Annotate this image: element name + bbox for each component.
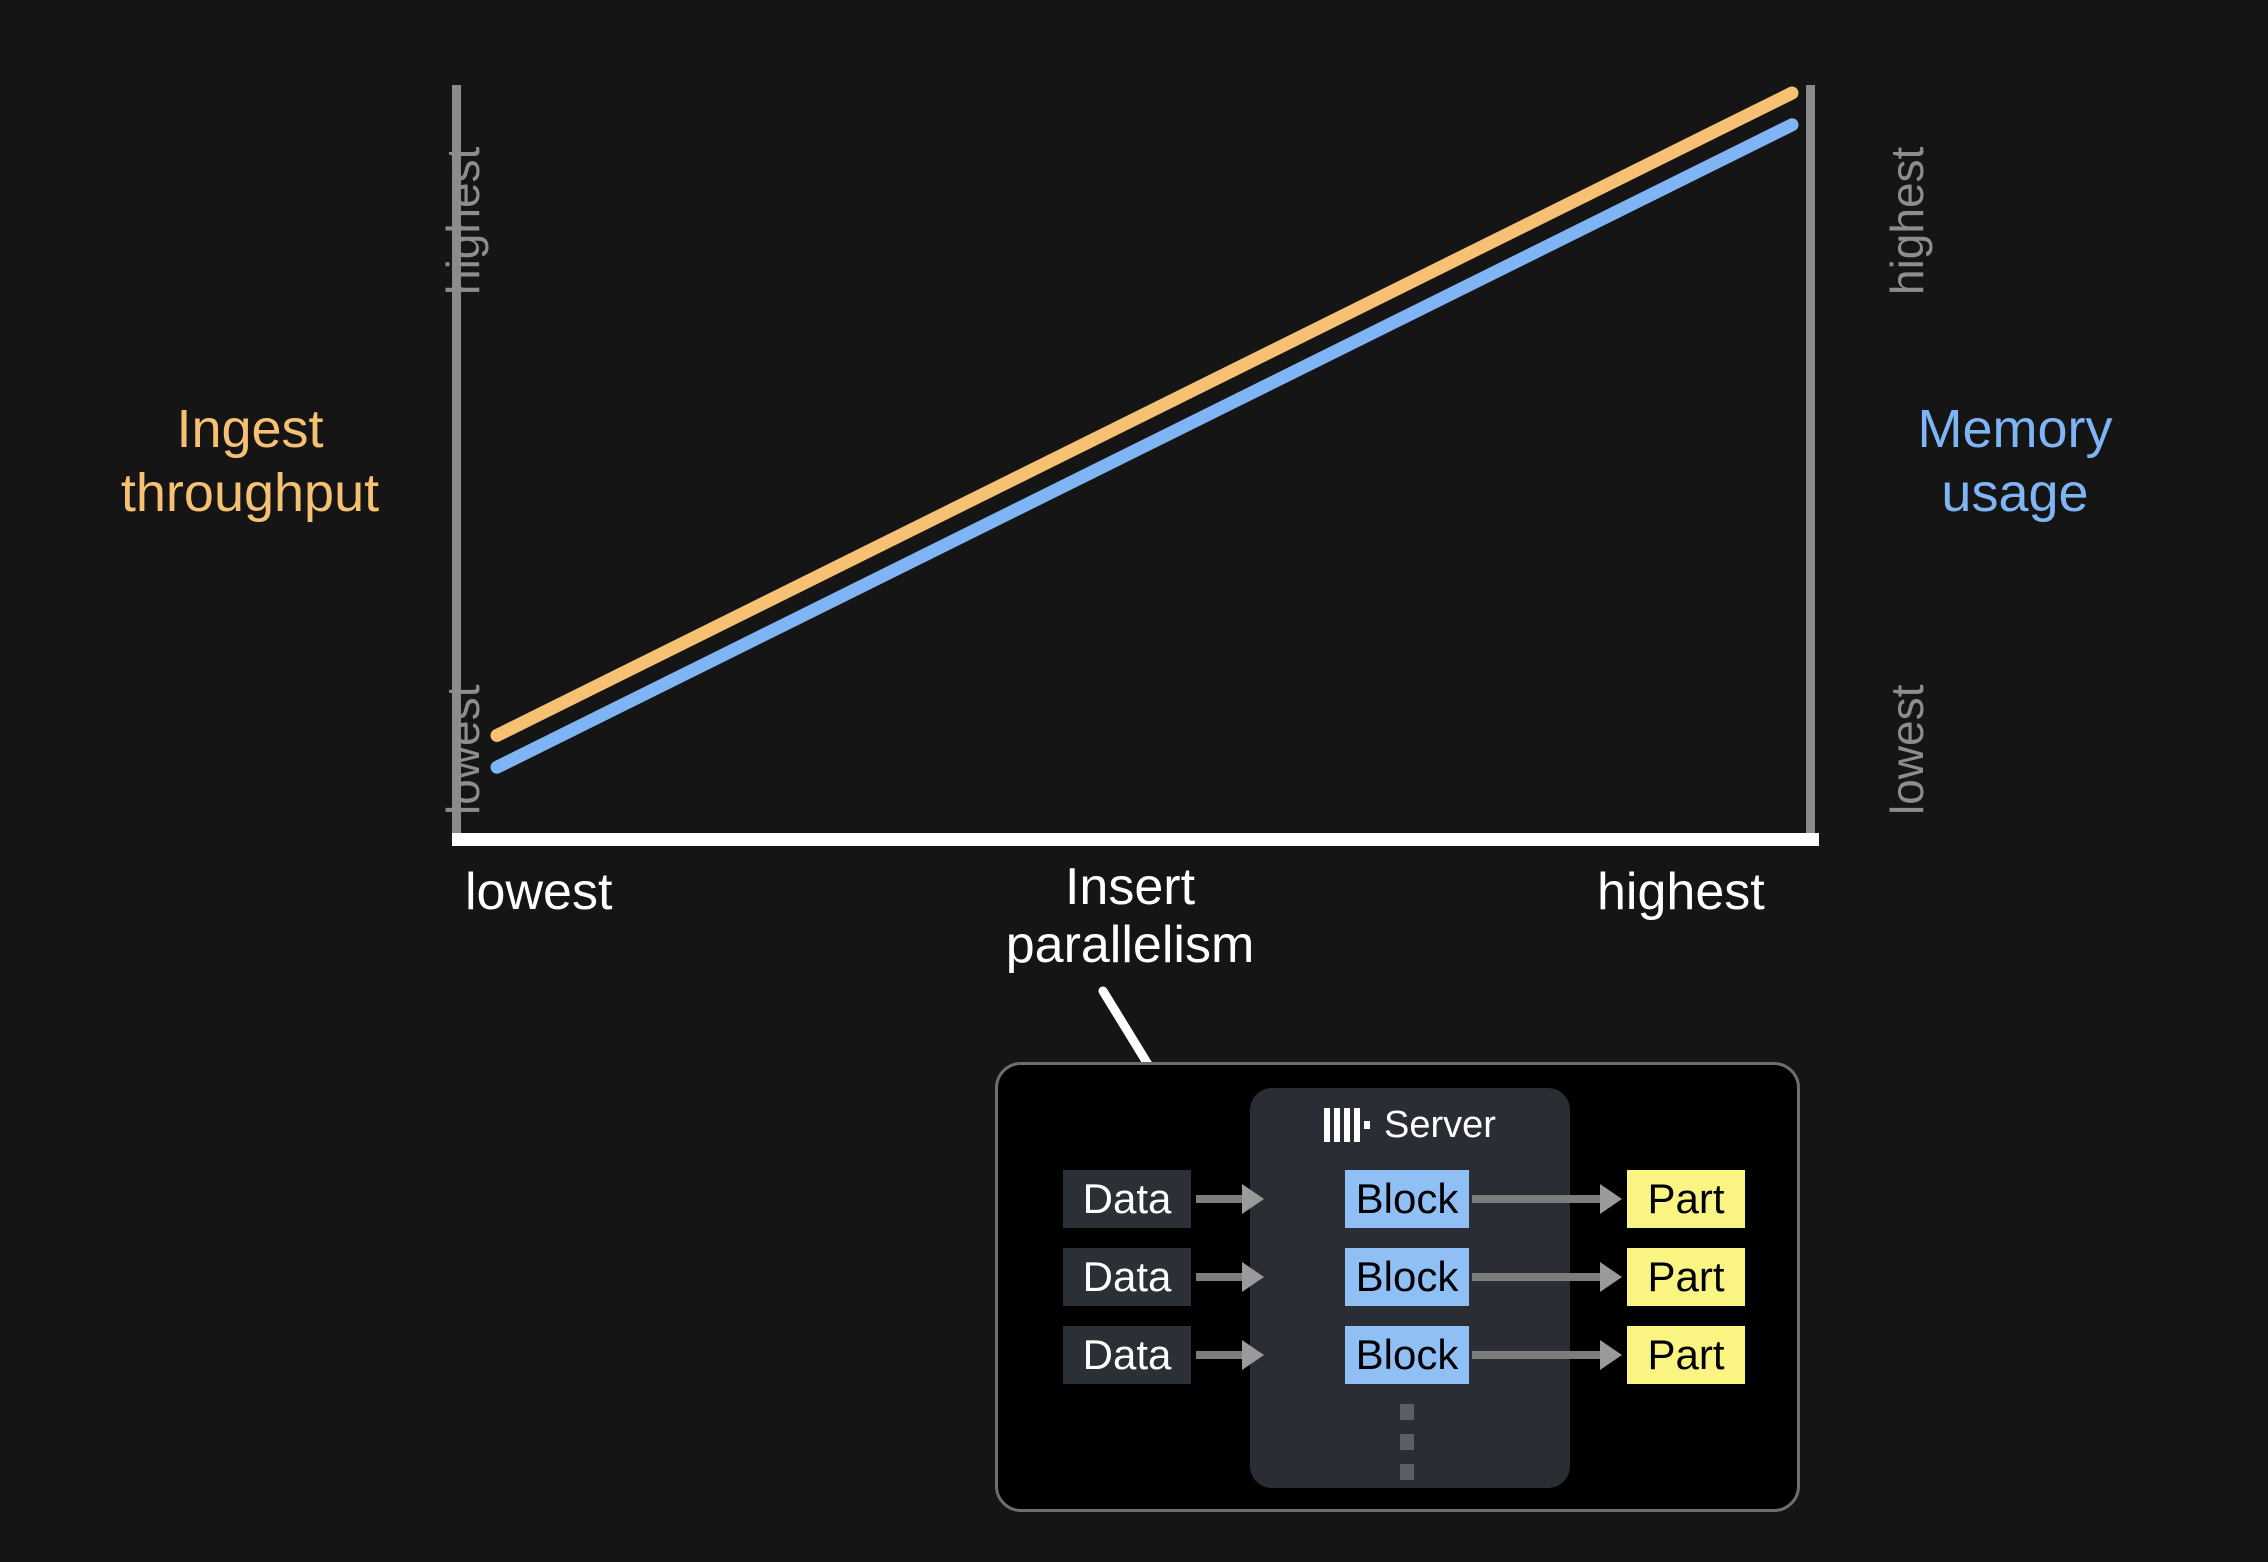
memory-usage-line — [497, 125, 1792, 767]
x-axis-tick-lowest: lowest — [465, 862, 612, 922]
data-chip: Data — [1063, 1326, 1191, 1384]
data-to-block-arrow — [1196, 1351, 1244, 1359]
part-chip: Part — [1627, 1326, 1745, 1384]
more-blocks-dot — [1400, 1464, 1414, 1480]
more-blocks-dot — [1400, 1404, 1414, 1420]
clickhouse-logo-icon — [1324, 1108, 1370, 1142]
ingest-throughput-line — [497, 93, 1792, 735]
data-chip: Data — [1063, 1248, 1191, 1306]
data-to-block-arrow — [1196, 1273, 1244, 1281]
chart-plot-area — [452, 85, 1818, 833]
block-chip: Block — [1345, 1326, 1469, 1384]
more-blocks-dot — [1400, 1434, 1414, 1450]
block-chip: Block — [1345, 1248, 1469, 1306]
y-axis-right-title: Memory usage — [1840, 398, 2190, 525]
y-axis-left-title: Ingest throughput — [90, 398, 410, 525]
block-to-part-arrow — [1472, 1195, 1602, 1203]
chart-lines-svg — [452, 85, 1818, 833]
x-axis-title: Insert parallelism — [920, 858, 1340, 974]
block-to-part-arrow — [1472, 1351, 1602, 1359]
y-axis-right-tick-lowest: lowest — [1880, 685, 1934, 815]
block-chip: Block — [1345, 1170, 1469, 1228]
server-header: Server — [1250, 1100, 1570, 1150]
part-chip: Part — [1627, 1248, 1745, 1306]
x-axis-tick-highest: highest — [1597, 862, 1765, 922]
data-chip: Data — [1063, 1170, 1191, 1228]
y-axis-right-line — [1806, 85, 1815, 833]
data-to-block-arrow — [1196, 1195, 1244, 1203]
x-axis-line — [452, 833, 1819, 846]
y-axis-left-tick-lowest: lowest — [436, 685, 490, 815]
y-axis-right-tick-highest: highest — [1880, 147, 1934, 295]
y-axis-left-tick-highest: highest — [436, 147, 490, 295]
slide-canvas: highest lowest highest lowest Ingest thr… — [0, 0, 2268, 1562]
part-chip: Part — [1627, 1170, 1745, 1228]
block-to-part-arrow — [1472, 1273, 1602, 1281]
server-label: Server — [1384, 1104, 1496, 1147]
